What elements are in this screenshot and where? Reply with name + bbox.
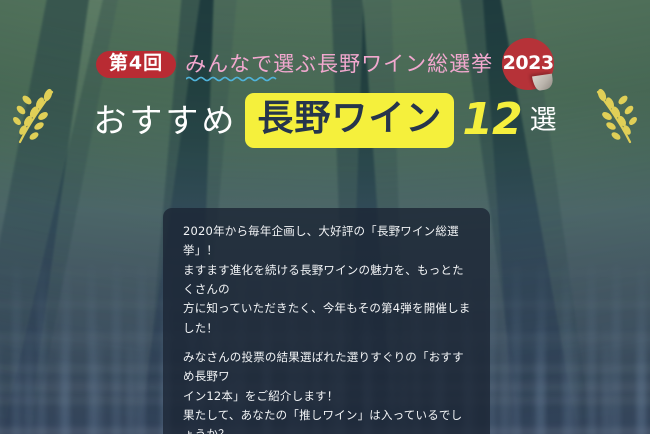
headline-lead: おすすめ — [93, 104, 237, 137]
description-line: 2020年から毎年企画し、大好評の「長野ワイン総選挙」！ — [183, 224, 459, 257]
headline-row: おすすめ 長野ワイン 12 選 — [0, 88, 650, 152]
description-line: ますます進化を続ける長野ワインの魅力を、もっとたくさんの — [183, 263, 464, 296]
description-line: イン12本」をご紹介します！ — [183, 389, 338, 403]
headline-counter: 選 — [530, 107, 557, 134]
description-line: 方に知っていただきたく、今年もその第4弾を開催しました！ — [183, 301, 471, 334]
paragraph-spacer — [183, 338, 472, 348]
description-panel: 2020年から毎年企画し、大好評の「長野ワイン総選挙」！ ますます進化を続ける長… — [163, 208, 490, 434]
wavy-underline-icon — [186, 76, 278, 82]
description-paragraph-1: 2020年から毎年企画し、大好評の「長野ワイン総選挙」！ ますます進化を続ける長… — [183, 222, 472, 338]
headline-highlight: 長野ワイン — [245, 93, 454, 148]
headline-number: 12 — [462, 98, 521, 142]
wheat-sprig-icon — [12, 88, 58, 150]
wheat-sprig-icon — [592, 88, 638, 150]
edition-badge: 第4回 — [96, 51, 176, 78]
subtitle-wrapper: みんなで選ぶ長野ワイン総選挙 — [185, 54, 493, 75]
year-badge-label: 2023 — [502, 38, 554, 90]
description-paragraph-2: みなさんの投票の結果選ばれた選りすぐりの「おすすめ長野ワ イン12本」をご紹介し… — [183, 348, 472, 434]
promo-banner: 第4回 みんなで選ぶ長野ワイン総選挙 2023 おすすめ 長野ワイン 12 選 — [0, 0, 650, 434]
description-line: みなさんの投票の結果選ばれた選りすぐりの「おすすめ長野ワ — [183, 350, 464, 383]
subtitle-text: みんなで選ぶ長野ワイン総選挙 — [185, 54, 493, 75]
year-badge: 2023 — [502, 38, 554, 90]
header-row: 第4回 みんなで選ぶ長野ワイン総選挙 2023 — [0, 42, 650, 86]
description-line: 果たして、あなたの「推しワイン」は入っているでしょうか？ — [183, 408, 462, 434]
